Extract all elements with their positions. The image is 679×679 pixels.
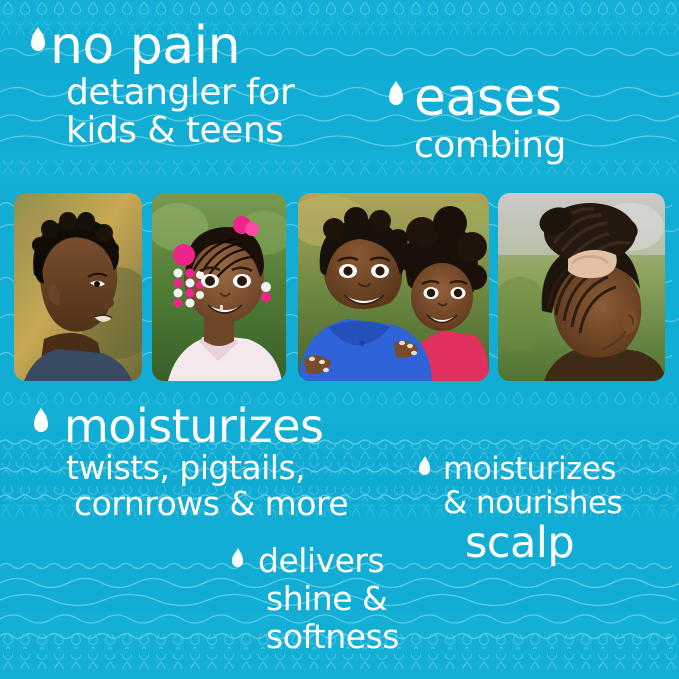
water-drop-icon (419, 460, 430, 475)
feature-no-pain: no pain detangler for kids & teens (50, 18, 294, 150)
feature-eases-combing: eases combing (414, 70, 566, 166)
photo-strip (0, 180, 679, 395)
feature-eases-line2: combing (414, 126, 566, 166)
feature-shine-line1: delivers (258, 542, 399, 580)
photo-4-art (498, 193, 665, 381)
feature-moisturizes-line1: moisturizes (64, 402, 348, 450)
photo-boy-short-afro (14, 193, 142, 381)
feature-scalp-line3: scalp (443, 520, 622, 566)
photo-3-art (298, 193, 489, 381)
photo-two-children-hoodie (298, 193, 489, 381)
feature-moisturizes-styles: moisturizes twists, pigtails, cornrows &… (64, 402, 348, 522)
feature-moisturizes-scalp: moisturizes & nourishes scalp (443, 452, 622, 566)
feature-no-pain-line2: detangler for (50, 74, 294, 112)
feature-moisturizes-line2: twists, pigtails, (64, 450, 348, 486)
product-feature-poster: no pain detangler for kids & teens eases… (0, 0, 679, 679)
water-drop-icon (232, 552, 243, 567)
feature-delivers-shine: delivers shine & softness (258, 542, 399, 656)
water-drop-icon (34, 413, 48, 432)
feature-eases-line1: eases (414, 70, 566, 126)
photo-girl-twisted-bun (498, 193, 665, 381)
feature-scalp-line2: & nourishes (443, 486, 622, 520)
feature-moisturizes-line3: cornrows & more (64, 486, 348, 522)
feature-shine-line2: shine & (258, 580, 399, 618)
feature-no-pain-line3: kids & teens (50, 112, 294, 150)
water-drop-icon (31, 32, 45, 51)
feature-shine-line3: softness (258, 618, 399, 656)
water-drop-icon (389, 86, 403, 105)
photo-toddler-braids-beads (152, 193, 286, 381)
feature-scalp-line1: moisturizes (443, 452, 622, 486)
feature-no-pain-line1: no pain (50, 18, 294, 74)
photo-1-art (14, 193, 142, 381)
photo-2-art (152, 193, 286, 381)
